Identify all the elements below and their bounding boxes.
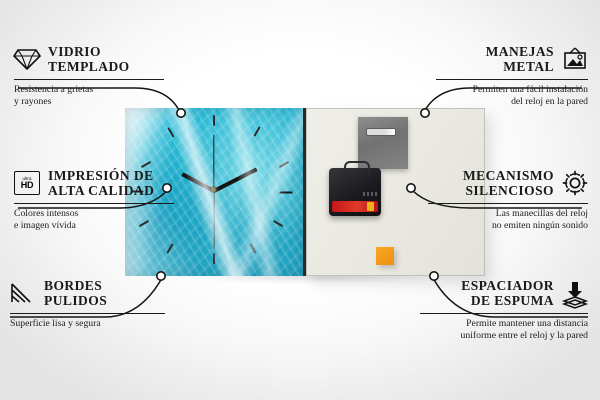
feature-manejas-metal: MANEJAS METAL Permiten una fácil instala…: [436, 44, 588, 109]
gear-icon: [562, 170, 588, 196]
title-divider: [436, 79, 588, 80]
minute-hand: [213, 167, 258, 192]
foam-spacer-arrow-icon: [562, 280, 588, 306]
title-divider: [10, 313, 165, 314]
feature-title: MECANISMO SILENCIOSO: [463, 168, 554, 199]
feature-description: Permite mantener una distancia uniforme …: [420, 318, 588, 343]
hanger-slot: [366, 128, 396, 136]
title-divider: [14, 203, 174, 204]
feature-description: Resistencia a grietas y rayones: [14, 84, 164, 109]
feature-impresion-alta-calidad: ultra HD IMPRESIÓN DE ALTA CALIDAD Color…: [14, 168, 174, 233]
feature-vidrio-templado: VIDRIO TEMPLADO Resistencia a grietas y …: [14, 44, 164, 109]
mechanism-detail: [363, 192, 377, 196]
feature-title: VIDRIO TEMPLADO: [48, 44, 130, 75]
feature-bordes-pulidos: BORDES PULIDOS Superficie lisa y segura: [10, 278, 165, 330]
feature-mecanismo-silencioso: MECANISMO SILENCIOSO Las manecillas del …: [428, 168, 588, 233]
title-divider: [420, 313, 588, 314]
hands-center-cap: [211, 187, 216, 192]
title-divider: [428, 203, 588, 204]
ultra-hd-icon: ultra HD: [14, 170, 40, 196]
feature-title: MANEJAS METAL: [486, 44, 554, 75]
infographic-canvas: VIDRIO TEMPLADO Resistencia a grietas y …: [0, 0, 600, 400]
mechanism-hanger-loop: [344, 161, 370, 173]
second-hand: [213, 191, 214, 249]
feature-description: Superficie lisa y segura: [10, 318, 165, 331]
title-divider: [14, 79, 164, 80]
feature-description: Permiten una fácil instalación del reloj…: [436, 84, 588, 109]
hour-hand: [181, 172, 215, 192]
second-hand-tail: [213, 135, 214, 191]
battery-compartment: [332, 201, 378, 212]
diamond-icon: [14, 46, 40, 72]
feature-title: BORDES PULIDOS: [44, 278, 107, 309]
feature-description: Colores intensos e imagen vívida: [14, 208, 174, 233]
feature-title: ESPACIADOR DE ESPUMA: [461, 278, 554, 309]
feature-description: Las manecillas del reloj no emiten ningú…: [428, 208, 588, 233]
clock-mechanism: [329, 168, 381, 216]
polished-edges-icon: [10, 280, 36, 306]
feature-title: IMPRESIÓN DE ALTA CALIDAD: [48, 168, 154, 199]
feature-espaciador-espuma: ESPACIADOR DE ESPUMA Permite mantener un…: [420, 278, 588, 343]
foam-spacer-pad: [376, 247, 394, 265]
picture-frame-hook-icon: [562, 46, 588, 72]
